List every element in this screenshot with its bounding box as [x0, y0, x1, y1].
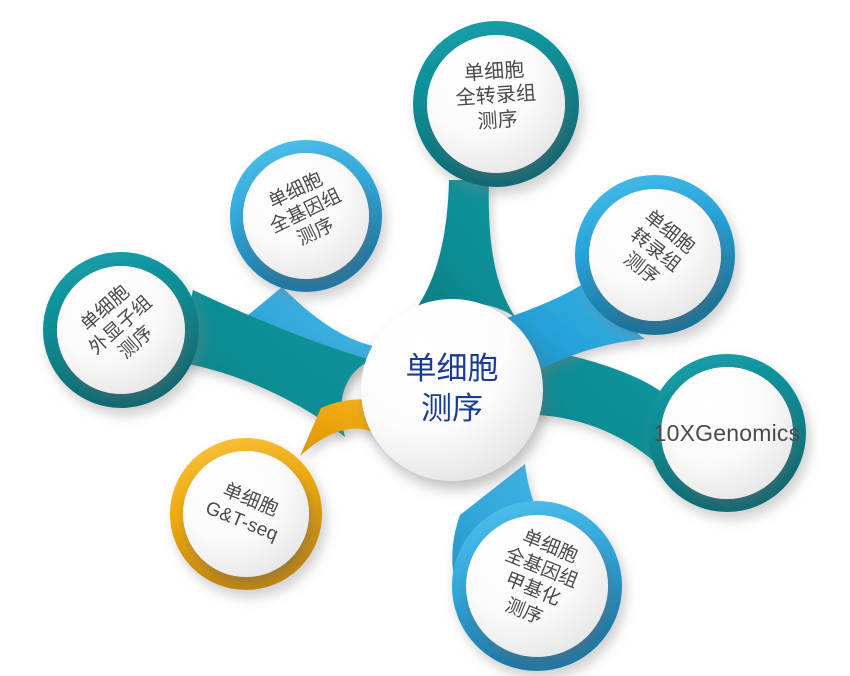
disc-exome[interactable]	[57, 266, 185, 394]
disc-wgbs-methylation[interactable]	[466, 515, 608, 657]
diagram-canvas: 单细胞 全转录组 测序 单细胞 全基因组 测序 单细胞 外显子组 测序 单细胞 …	[0, 0, 850, 676]
hub-disc[interactable]	[361, 299, 543, 481]
disc-gt-seq[interactable]	[183, 451, 309, 577]
radial-diagram-svg	[0, 0, 850, 676]
connector-whole-transcriptome	[408, 180, 516, 320]
hub-layer	[361, 299, 543, 481]
disc-whole-genome[interactable]	[243, 153, 369, 279]
disc-transcriptome[interactable]	[589, 189, 721, 321]
disc-whole-transcriptome[interactable]	[427, 35, 565, 173]
disc-10x-genomics[interactable]	[661, 367, 793, 499]
